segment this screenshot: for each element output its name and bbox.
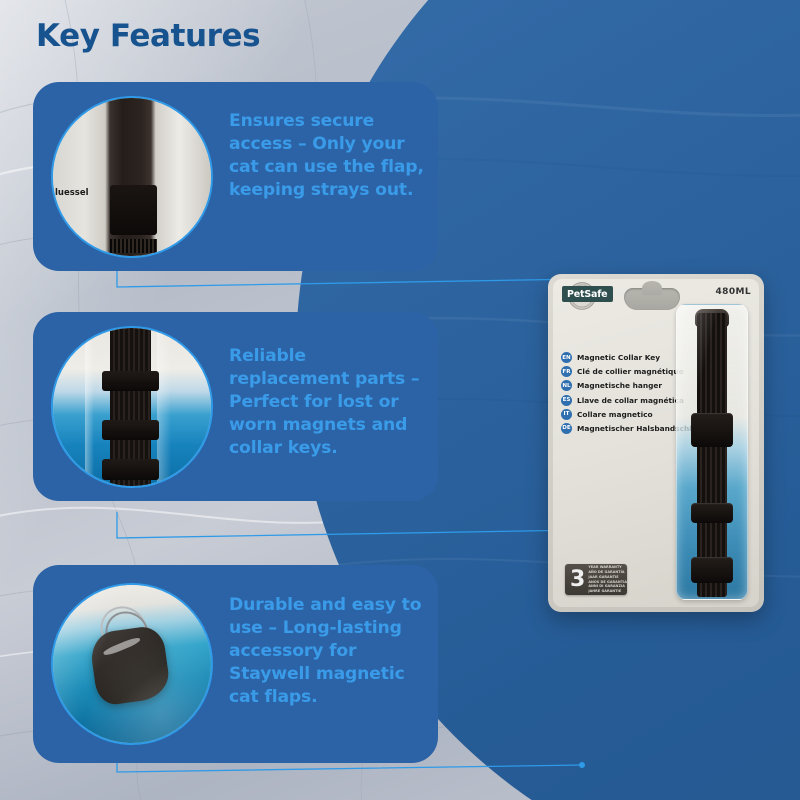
brand-name: PetSafe <box>562 286 613 302</box>
language-label-fr: Clé de collier magnétique <box>577 367 684 376</box>
warranty-lines: YEAR WARRANTY AÑO DE GARANTÍA JAAR GARAN… <box>588 565 627 594</box>
warranty-line-de: JAHRE GARANTIE <box>588 589 627 594</box>
blister-gloss-overlay <box>53 585 211 743</box>
language-code-nl: NL <box>561 380 572 391</box>
warranty-number: 3 <box>570 569 585 591</box>
volume-code: 480ML <box>716 287 751 297</box>
photo-1-content: luessel <box>53 98 211 256</box>
magnet-key-photo <box>51 583 213 745</box>
strap-clip-3 <box>102 459 159 480</box>
feature-text-durable-easy: Durable and easy to use – Long-lasting a… <box>229 594 425 708</box>
language-label-it: Collare magnetico <box>577 410 653 419</box>
collar-on-flap-photo: luessel <box>51 96 213 258</box>
language-label-en: Magnetic Collar Key <box>577 353 660 362</box>
page-title: Key Features <box>36 18 260 54</box>
blister-sheen <box>677 305 747 599</box>
feature-card-replacement-parts: Reliable replacement parts – Perfect for… <box>33 312 438 501</box>
photo-2-content <box>53 328 211 486</box>
feature-card-secure-access: luessel Ensures secure access – Only you… <box>33 82 438 271</box>
language-code-es: ES <box>561 395 572 406</box>
photo-2-highlight-right <box>157 328 171 486</box>
feature-text-secure-access: Ensures secure access – Only your cat ca… <box>229 110 425 202</box>
collar-ridges-shape <box>110 239 157 253</box>
package-hang-tab <box>624 288 680 310</box>
language-code-fr: FR <box>561 366 572 377</box>
collar-buckle-shape <box>110 185 157 236</box>
collar-strap-photo <box>51 326 213 488</box>
strap-clip-2 <box>102 420 159 441</box>
petsafe-logo: PetSafe <box>562 286 613 302</box>
feature-card-durable-easy: Durable and easy to use – Long-lasting a… <box>33 565 438 763</box>
photo-3-content <box>53 585 211 743</box>
language-code-it: IT <box>561 409 572 420</box>
language-label-es: Llave de collar magnética <box>577 396 684 405</box>
language-code-de: DE <box>561 423 572 434</box>
product-package: PetSafe 480ML EN Magnetic Collar Key FR … <box>548 274 764 612</box>
language-code-en: EN <box>561 352 572 363</box>
strap-clip-1 <box>102 371 159 392</box>
photo-2-highlight-left <box>85 328 94 486</box>
photo-1-caption: luessel <box>55 188 89 198</box>
feature-text-replacement-parts: Reliable replacement parts – Perfect for… <box>229 345 425 459</box>
blister-bubble <box>676 304 748 600</box>
language-label-nl: Magnetische hanger <box>577 381 662 390</box>
warranty-badge: 3 YEAR WARRANTY AÑO DE GARANTÍA JAAR GAR… <box>565 564 627 595</box>
